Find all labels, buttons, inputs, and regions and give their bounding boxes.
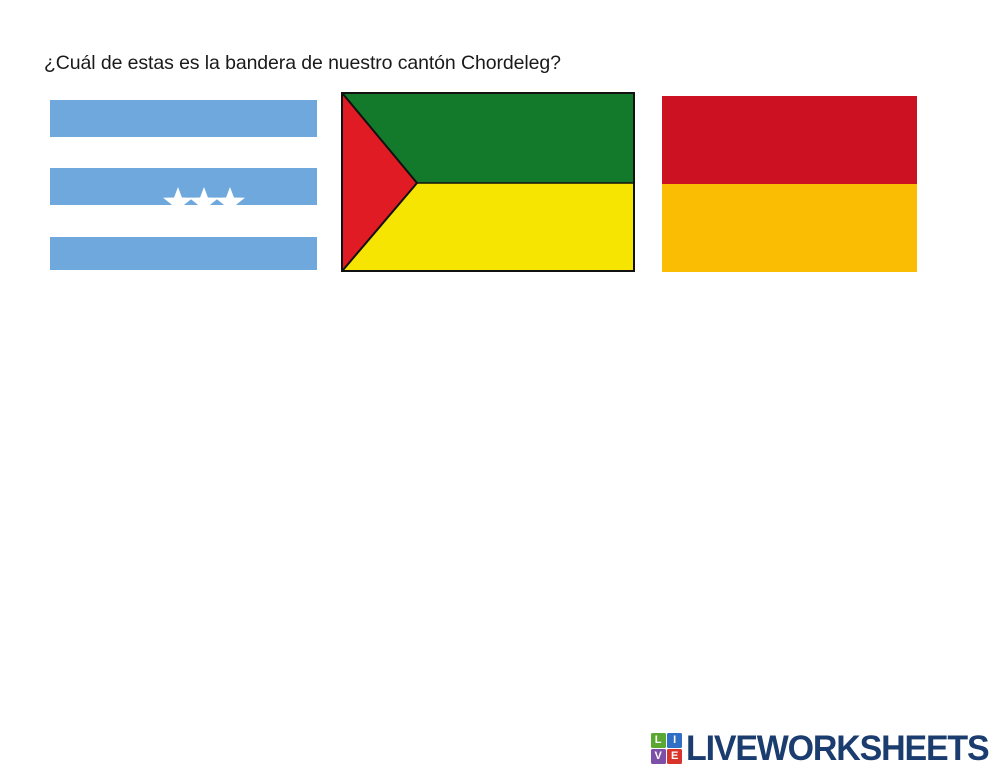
flag-option-guayaquil[interactable] [50, 100, 317, 270]
answer-options-row [0, 0, 1000, 300]
logo-letter-i: I [667, 733, 682, 748]
logo-letter-v: V [651, 749, 666, 764]
flag-stripe-top [50, 100, 317, 137]
logo-letter-e: E [667, 749, 682, 764]
liveworksheets-wordmark: LIVEWORKSHEETS [686, 731, 988, 766]
flag-stripe-bottom [50, 237, 317, 270]
liveworksheets-logo-icon: L I V E [651, 733, 683, 765]
flag-option-chordeleg[interactable] [341, 92, 635, 272]
logo-letter-l: L [651, 733, 666, 748]
flag-option-cuenca[interactable] [662, 96, 917, 272]
flag-band-red [662, 96, 917, 184]
flag-band-gold [662, 184, 917, 272]
liveworksheets-logo[interactable]: L I V E LIVEWORKSHEETS [651, 731, 998, 766]
flag-stars-band [50, 168, 317, 205]
